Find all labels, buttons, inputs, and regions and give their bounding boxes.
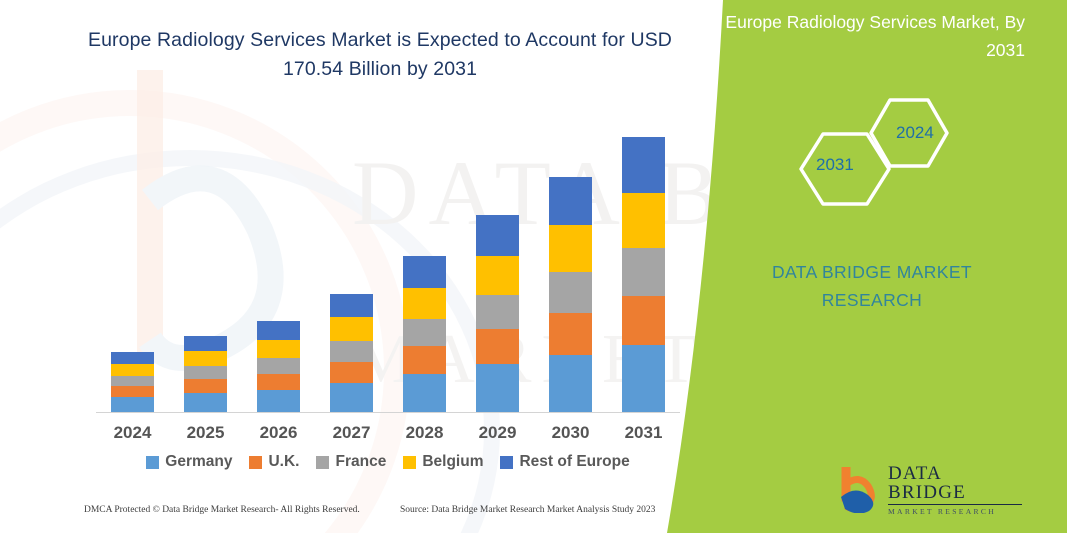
bar-segment-rest-of-europe xyxy=(257,321,300,340)
legend-swatch-france xyxy=(316,456,329,469)
logo-wordmark: DATA BRIDGE MARKET RESEARCH xyxy=(888,464,1022,516)
bar-segment-belgium xyxy=(403,288,446,319)
chart-legend: GermanyU.K.FranceBelgiumRest of Europe xyxy=(96,453,680,471)
bar-segment-france xyxy=(184,366,227,379)
bar-column-2028 xyxy=(388,100,461,412)
legend-item-france[interactable]: France xyxy=(316,453,386,471)
bar-segment-rest-of-europe xyxy=(622,137,665,193)
chart-baseline xyxy=(96,412,680,413)
chart-plot-area xyxy=(96,100,680,413)
bar-segment-rest-of-europe xyxy=(403,256,446,288)
stacked-bar xyxy=(549,177,592,412)
bar-column-2027 xyxy=(315,100,388,412)
hexagon-2024-label: 2024 xyxy=(896,123,934,143)
bar-segment-rest-of-europe xyxy=(184,336,227,351)
bar-segment-belgium xyxy=(549,225,592,272)
bar-column-2026 xyxy=(242,100,315,412)
bar-segment-rest-of-europe xyxy=(330,294,373,317)
bar-segment-france xyxy=(476,295,519,329)
stacked-bar xyxy=(330,294,373,412)
bar-segment-germany xyxy=(549,355,592,412)
x-axis-tick-2029: 2029 xyxy=(461,423,534,443)
bar-segment-rest-of-europe xyxy=(111,352,154,364)
logo-sub-text: MARKET RESEARCH xyxy=(888,508,1022,516)
bar-segment-france xyxy=(403,319,446,346)
hexagon-shapes-icon xyxy=(785,96,975,206)
bar-segment-belgium xyxy=(184,351,227,366)
bar-segment-germany xyxy=(330,383,373,412)
bar-segment-belgium xyxy=(111,364,154,376)
bar-segment-germany xyxy=(184,393,227,412)
bar-column-2029 xyxy=(461,100,534,412)
bar-segment-germany xyxy=(622,345,665,412)
footer-copyright: DMCA Protected © Data Bridge Market Rese… xyxy=(84,505,360,515)
x-axis-tick-2028: 2028 xyxy=(388,423,461,443)
footer-source: Source: Data Bridge Market Research Mark… xyxy=(400,505,655,515)
bar-column-2025 xyxy=(169,100,242,412)
bar-segment-u-k xyxy=(184,379,227,393)
infographic-root: DATA BRIDGE MARKET RESEARCH Europe Radio… xyxy=(0,0,1067,533)
hexagon-2031-label: 2031 xyxy=(816,155,854,175)
legend-swatch-rest-of-europe xyxy=(500,456,513,469)
x-axis-tick-2025: 2025 xyxy=(169,423,242,443)
legend-item-u-k[interactable]: U.K. xyxy=(249,453,299,471)
bar-segment-germany xyxy=(111,397,154,412)
bar-segment-u-k xyxy=(476,329,519,364)
stacked-bar-group xyxy=(96,100,680,412)
x-axis-tick-2027: 2027 xyxy=(315,423,388,443)
brand-text-line-2: RESEARCH xyxy=(822,290,922,310)
bar-segment-u-k xyxy=(549,313,592,355)
stacked-bar xyxy=(403,256,446,412)
company-logo: DATA BRIDGE MARKET RESEARCH xyxy=(837,462,1022,517)
bar-segment-belgium xyxy=(257,340,300,358)
panel-title: Europe Radiology Services Market, By 203… xyxy=(725,8,1025,64)
brand-text-line-1: DATA BRIDGE MARKET xyxy=(772,262,972,282)
stacked-bar xyxy=(184,336,227,412)
legend-item-rest-of-europe[interactable]: Rest of Europe xyxy=(500,453,629,471)
bar-segment-belgium xyxy=(330,317,373,341)
legend-item-germany[interactable]: Germany xyxy=(146,453,232,471)
bar-segment-germany xyxy=(476,364,519,412)
bar-segment-belgium xyxy=(622,193,665,248)
x-axis-tick-2026: 2026 xyxy=(242,423,315,443)
chart-panel: Europe Radiology Services Market is Expe… xyxy=(0,0,760,533)
bar-segment-u-k xyxy=(257,374,300,390)
legend-label-france: France xyxy=(335,453,386,471)
bar-segment-belgium xyxy=(476,256,519,295)
legend-swatch-germany xyxy=(146,456,159,469)
page-title: Europe Radiology Services Market is Expe… xyxy=(60,26,700,84)
legend-label-belgium: Belgium xyxy=(422,453,483,471)
bar-segment-u-k xyxy=(622,296,665,345)
green-side-panel: Europe Radiology Services Market, By 203… xyxy=(667,0,1067,533)
bar-column-2030 xyxy=(534,100,607,412)
legend-label-u-k: U.K. xyxy=(268,453,299,471)
x-axis-tick-2024: 2024 xyxy=(96,423,169,443)
stacked-bar xyxy=(622,137,665,412)
x-axis-labels: 20242025202620272028202920302031 xyxy=(96,420,680,446)
x-axis-tick-2030: 2030 xyxy=(534,423,607,443)
brand-text: DATA BRIDGE MARKET RESEARCH xyxy=(727,258,1017,314)
logo-main-text: DATA BRIDGE xyxy=(888,464,1022,505)
bar-segment-u-k xyxy=(330,362,373,383)
bar-segment-france xyxy=(549,272,592,313)
stacked-bar xyxy=(476,215,519,412)
stacked-bar xyxy=(257,321,300,412)
data-bridge-b-logo-icon xyxy=(837,467,881,513)
bar-segment-u-k xyxy=(111,386,154,397)
stacked-bar xyxy=(111,352,154,412)
hexagon-group: 2024 2031 xyxy=(785,96,975,206)
legend-swatch-u-k xyxy=(249,456,262,469)
bar-segment-germany xyxy=(403,374,446,412)
legend-item-belgium[interactable]: Belgium xyxy=(403,453,483,471)
legend-label-rest-of-europe: Rest of Europe xyxy=(519,453,629,471)
bar-segment-france xyxy=(622,248,665,296)
bar-segment-rest-of-europe xyxy=(476,215,519,256)
bar-segment-france xyxy=(257,358,300,374)
bar-segment-germany xyxy=(257,390,300,412)
legend-swatch-belgium xyxy=(403,456,416,469)
bar-segment-rest-of-europe xyxy=(549,177,592,225)
footer: DMCA Protected © Data Bridge Market Rese… xyxy=(0,505,705,529)
bar-segment-u-k xyxy=(403,346,446,374)
legend-label-germany: Germany xyxy=(165,453,232,471)
bar-column-2024 xyxy=(96,100,169,412)
bar-segment-france xyxy=(111,376,154,386)
bar-segment-france xyxy=(330,341,373,362)
